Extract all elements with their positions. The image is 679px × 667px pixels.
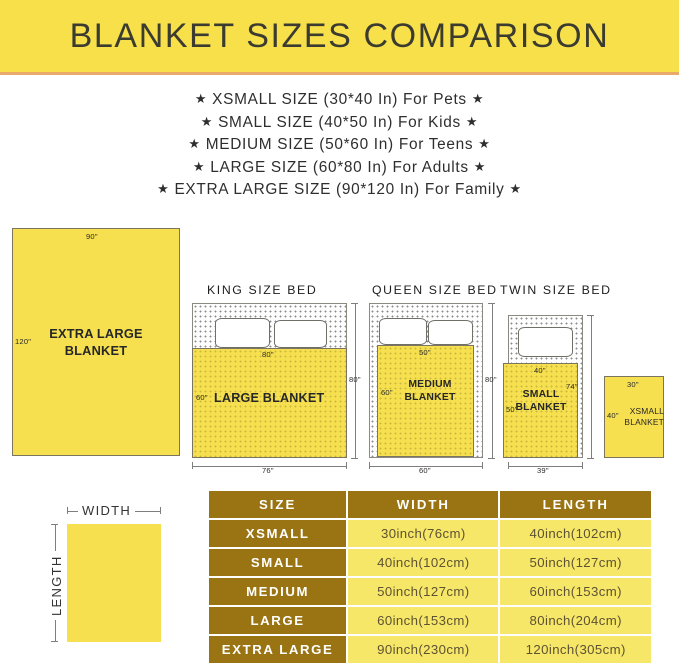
- xsmall-blanket-label: XSMALL BLANKET: [612, 406, 664, 427]
- medium-blanket-label-line1: MEDIUM: [408, 379, 451, 390]
- xsmall-blanket-label-line2: BLANKET: [624, 417, 664, 427]
- cell-size: XSMALL: [209, 520, 346, 547]
- cell-length: 50inch(127cm): [500, 549, 651, 576]
- king-bed-title: KING SIZE BED: [207, 283, 317, 297]
- queen-bed-title: QUEEN SIZE BED: [372, 283, 498, 297]
- extra-large-blanket-label-line2: BLANKET: [65, 343, 128, 358]
- star-icon: ★: [478, 136, 490, 151]
- king-pillow-left: [215, 318, 270, 348]
- cell-size: MEDIUM: [209, 578, 346, 605]
- xsmall-top-dimension: 30": [627, 380, 639, 389]
- star-icon: ★: [510, 181, 522, 196]
- table-row: SMALL 40inch(102cm) 50inch(127cm): [209, 549, 651, 576]
- medium-blanket-label: MEDIUM BLANKET: [390, 378, 470, 404]
- king-bed-height-dimension: 80": [349, 375, 361, 384]
- twin-bed-height-line: [591, 315, 592, 458]
- star-icon: ★: [201, 114, 213, 129]
- xsmall-blanket-label-line1: XSMALL: [630, 406, 664, 416]
- length-tick-top: [51, 524, 58, 525]
- cell-width: 30inch(76cm): [348, 520, 498, 547]
- list-item: ★ SMALL SIZE (40*50 In) For Kids ★: [0, 111, 679, 134]
- small-blanket-label-line2: BLANKET: [515, 402, 566, 413]
- cell-length: 60inch(153cm): [500, 578, 651, 605]
- list-item: ★ MEDIUM SIZE (50*60 In) For Teens ★: [0, 133, 679, 156]
- king-bed-width-dimension: 76": [262, 466, 274, 475]
- list-item: ★ XSMALL SIZE (30*40 In) For Pets ★: [0, 88, 679, 111]
- queen-bed-height-dimension: 80": [485, 375, 497, 384]
- cell-width: 60inch(153cm): [348, 607, 498, 634]
- queen-bed-width-tick-right: [482, 462, 483, 469]
- extra-large-blanket-label-line1: EXTRA LARGE: [49, 326, 142, 341]
- cell-size: SMALL: [209, 549, 346, 576]
- star-icon: ★: [195, 91, 207, 106]
- small-blanket-label-line1: SMALL: [523, 389, 560, 400]
- length-label: LENGTH: [49, 551, 64, 620]
- twin-bed-width-dimension: 39": [537, 466, 549, 475]
- table-row: XSMALL 30inch(76cm) 40inch(102cm): [209, 520, 651, 547]
- star-icon: ★: [157, 181, 169, 196]
- twin-bed-height-tick-bottom: [587, 458, 594, 459]
- cell-length: 120inch(305cm): [500, 636, 651, 663]
- star-icon: ★: [466, 114, 478, 129]
- list-item: ★ EXTRA LARGE SIZE (90*120 In) For Famil…: [0, 178, 679, 201]
- cell-length: 40inch(102cm): [500, 520, 651, 547]
- column-header-width: WIDTH: [348, 491, 498, 518]
- twin-bed-width-tick-right: [582, 462, 583, 469]
- cell-width: 40inch(102cm): [348, 549, 498, 576]
- medium-blanket-label-line2: BLANKET: [404, 392, 455, 403]
- size-summary-list: ★ XSMALL SIZE (30*40 In) For Pets ★ ★ SM…: [0, 88, 679, 201]
- list-item-label: LARGE SIZE (60*80 In) For Adults: [210, 159, 469, 176]
- list-item-label: MEDIUM SIZE (50*60 In) For Teens: [206, 136, 474, 153]
- large-blanket-label: LARGE BLANKET: [214, 391, 324, 406]
- star-icon: ★: [472, 91, 484, 106]
- queen-bed-width-dimension: 60": [419, 466, 431, 475]
- width-tick-left: [67, 507, 68, 514]
- width-tick-right: [160, 507, 161, 514]
- king-bed-width-tick-left: [192, 462, 193, 469]
- length-tick-bottom: [51, 641, 58, 642]
- king-bed-height-tick-bottom: [351, 458, 358, 459]
- cell-width: 50inch(127cm): [348, 578, 498, 605]
- king-bed-width-tick-right: [346, 462, 347, 469]
- header-divider: [0, 72, 679, 75]
- queen-bed-width-tick-left: [369, 462, 370, 469]
- star-icon: ★: [188, 136, 200, 151]
- cell-width: 90inch(230cm): [348, 636, 498, 663]
- cell-length: 80inch(204cm): [500, 607, 651, 634]
- twin-bed-height-dimension: 74": [566, 382, 578, 391]
- twin-bed-width-tick-left: [508, 462, 509, 469]
- king-bed-height-tick-top: [351, 303, 358, 304]
- small-blanket-width-dimension: 40": [534, 366, 546, 375]
- width-length-blanket-shape: [67, 524, 161, 642]
- column-header-size: SIZE: [209, 491, 346, 518]
- list-item-label: XSMALL SIZE (30*40 In) For Pets: [212, 91, 467, 108]
- list-item: ★ LARGE SIZE (60*80 In) For Adults ★: [0, 156, 679, 179]
- star-icon: ★: [474, 159, 486, 174]
- queen-bed-height-tick-bottom: [488, 458, 495, 459]
- table-row: MEDIUM 50inch(127cm) 60inch(153cm): [209, 578, 651, 605]
- cell-size: EXTRA LARGE: [209, 636, 346, 663]
- small-blanket-label: SMALL BLANKET: [508, 388, 574, 414]
- page-title: BLANKET SIZES COMPARISON: [0, 0, 679, 72]
- table-header-row: SIZE WIDTH LENGTH: [209, 491, 651, 518]
- large-blanket-height-dimension: 60": [196, 393, 208, 402]
- table-row: EXTRA LARGE 90inch(230cm) 120inch(305cm): [209, 636, 651, 663]
- list-item-label: SMALL SIZE (40*50 In) For Kids: [218, 114, 461, 131]
- twin-pillow: [518, 327, 573, 357]
- star-icon: ★: [193, 159, 205, 174]
- king-pillow-right: [274, 320, 327, 348]
- medium-blanket-width-dimension: 50": [419, 348, 431, 357]
- table-row: LARGE 60inch(153cm) 80inch(204cm): [209, 607, 651, 634]
- queen-pillow-right: [428, 320, 473, 345]
- queen-pillow-left: [379, 318, 427, 345]
- list-item-label: EXTRA LARGE SIZE (90*120 In) For Family: [174, 181, 504, 198]
- size-table: SIZE WIDTH LENGTH XSMALL 30inch(76cm) 40…: [207, 489, 653, 665]
- column-header-length: LENGTH: [500, 491, 651, 518]
- twin-bed-title: TWIN SIZE BED: [500, 283, 612, 297]
- cell-size: LARGE: [209, 607, 346, 634]
- width-label: WIDTH: [78, 503, 135, 518]
- large-blanket-width-dimension: 80": [262, 350, 274, 359]
- extra-large-top-dimension: 90": [86, 232, 98, 241]
- twin-bed-height-tick-top: [587, 315, 594, 316]
- queen-bed-height-tick-top: [488, 303, 495, 304]
- extra-large-blanket-label: EXTRA LARGE BLANKET: [12, 325, 180, 359]
